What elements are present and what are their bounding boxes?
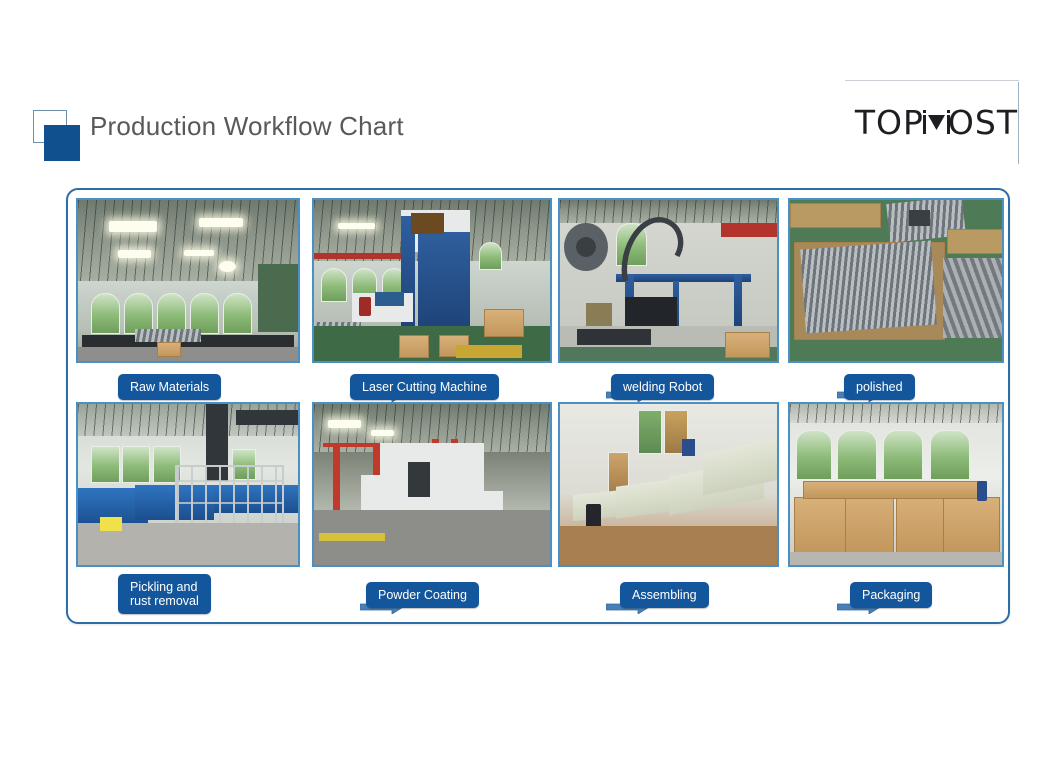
page-title: Production Workflow Chart — [90, 111, 404, 142]
workflow-row-1: Raw Materials — [68, 198, 1012, 410]
step-label-polished[interactable]: polished — [844, 374, 915, 400]
workflow-step-8: Packaging — [788, 402, 1014, 614]
brand-m-glyph-icon — [923, 108, 949, 134]
step-label-welding-robot[interactable]: welding Robot — [611, 374, 714, 400]
photo-polished — [788, 198, 1004, 363]
step-label-pickling-rust-removal[interactable]: Pickling and rust removal — [118, 574, 211, 614]
workflow-step-7: Assembling — [558, 402, 784, 614]
photo-powder-coating — [312, 402, 552, 567]
page-header: Production Workflow Chart TOP OST — [0, 0, 1060, 180]
workflow-step-6: Powder Coating — [312, 402, 538, 614]
header-rule — [845, 80, 1019, 81]
logo-divider — [1018, 82, 1019, 164]
brand-text-first: TOP — [855, 103, 924, 142]
step-label-assembling[interactable]: Assembling — [620, 582, 709, 608]
step-label-packaging[interactable]: Packaging — [850, 582, 932, 608]
photo-raw-materials — [76, 198, 300, 363]
two-squares-mark-icon — [33, 110, 89, 162]
square-filled-shape — [44, 125, 80, 161]
photo-packaging — [788, 402, 1004, 567]
workflow-step-5: Pickling and rust removal — [76, 402, 302, 614]
step-label-raw-materials[interactable]: Raw Materials — [118, 374, 221, 400]
brand-logo: TOP OST — [855, 103, 1018, 142]
photo-welding-robot — [558, 198, 779, 363]
workflow-step-4: polished — [788, 198, 1014, 410]
step-label-powder-coating[interactable]: Powder Coating — [366, 582, 479, 608]
step-label-laser-cutting-machine[interactable]: Laser Cutting Machine — [350, 374, 499, 400]
photo-assembling — [558, 402, 779, 567]
workflow-step-2: Laser Cutting Machine — [312, 198, 538, 410]
photo-pickling-rust-removal — [76, 402, 300, 567]
photo-laser-cutting-machine — [312, 198, 552, 363]
workflow-row-2: Pickling and rust removal — [68, 402, 1012, 614]
brand-text-last: OST — [948, 103, 1018, 142]
workflow-step-1: Raw Materials — [76, 198, 302, 410]
workflow-step-3: welding Robot — [558, 198, 784, 410]
workflow-frame: Raw Materials — [66, 188, 1010, 624]
